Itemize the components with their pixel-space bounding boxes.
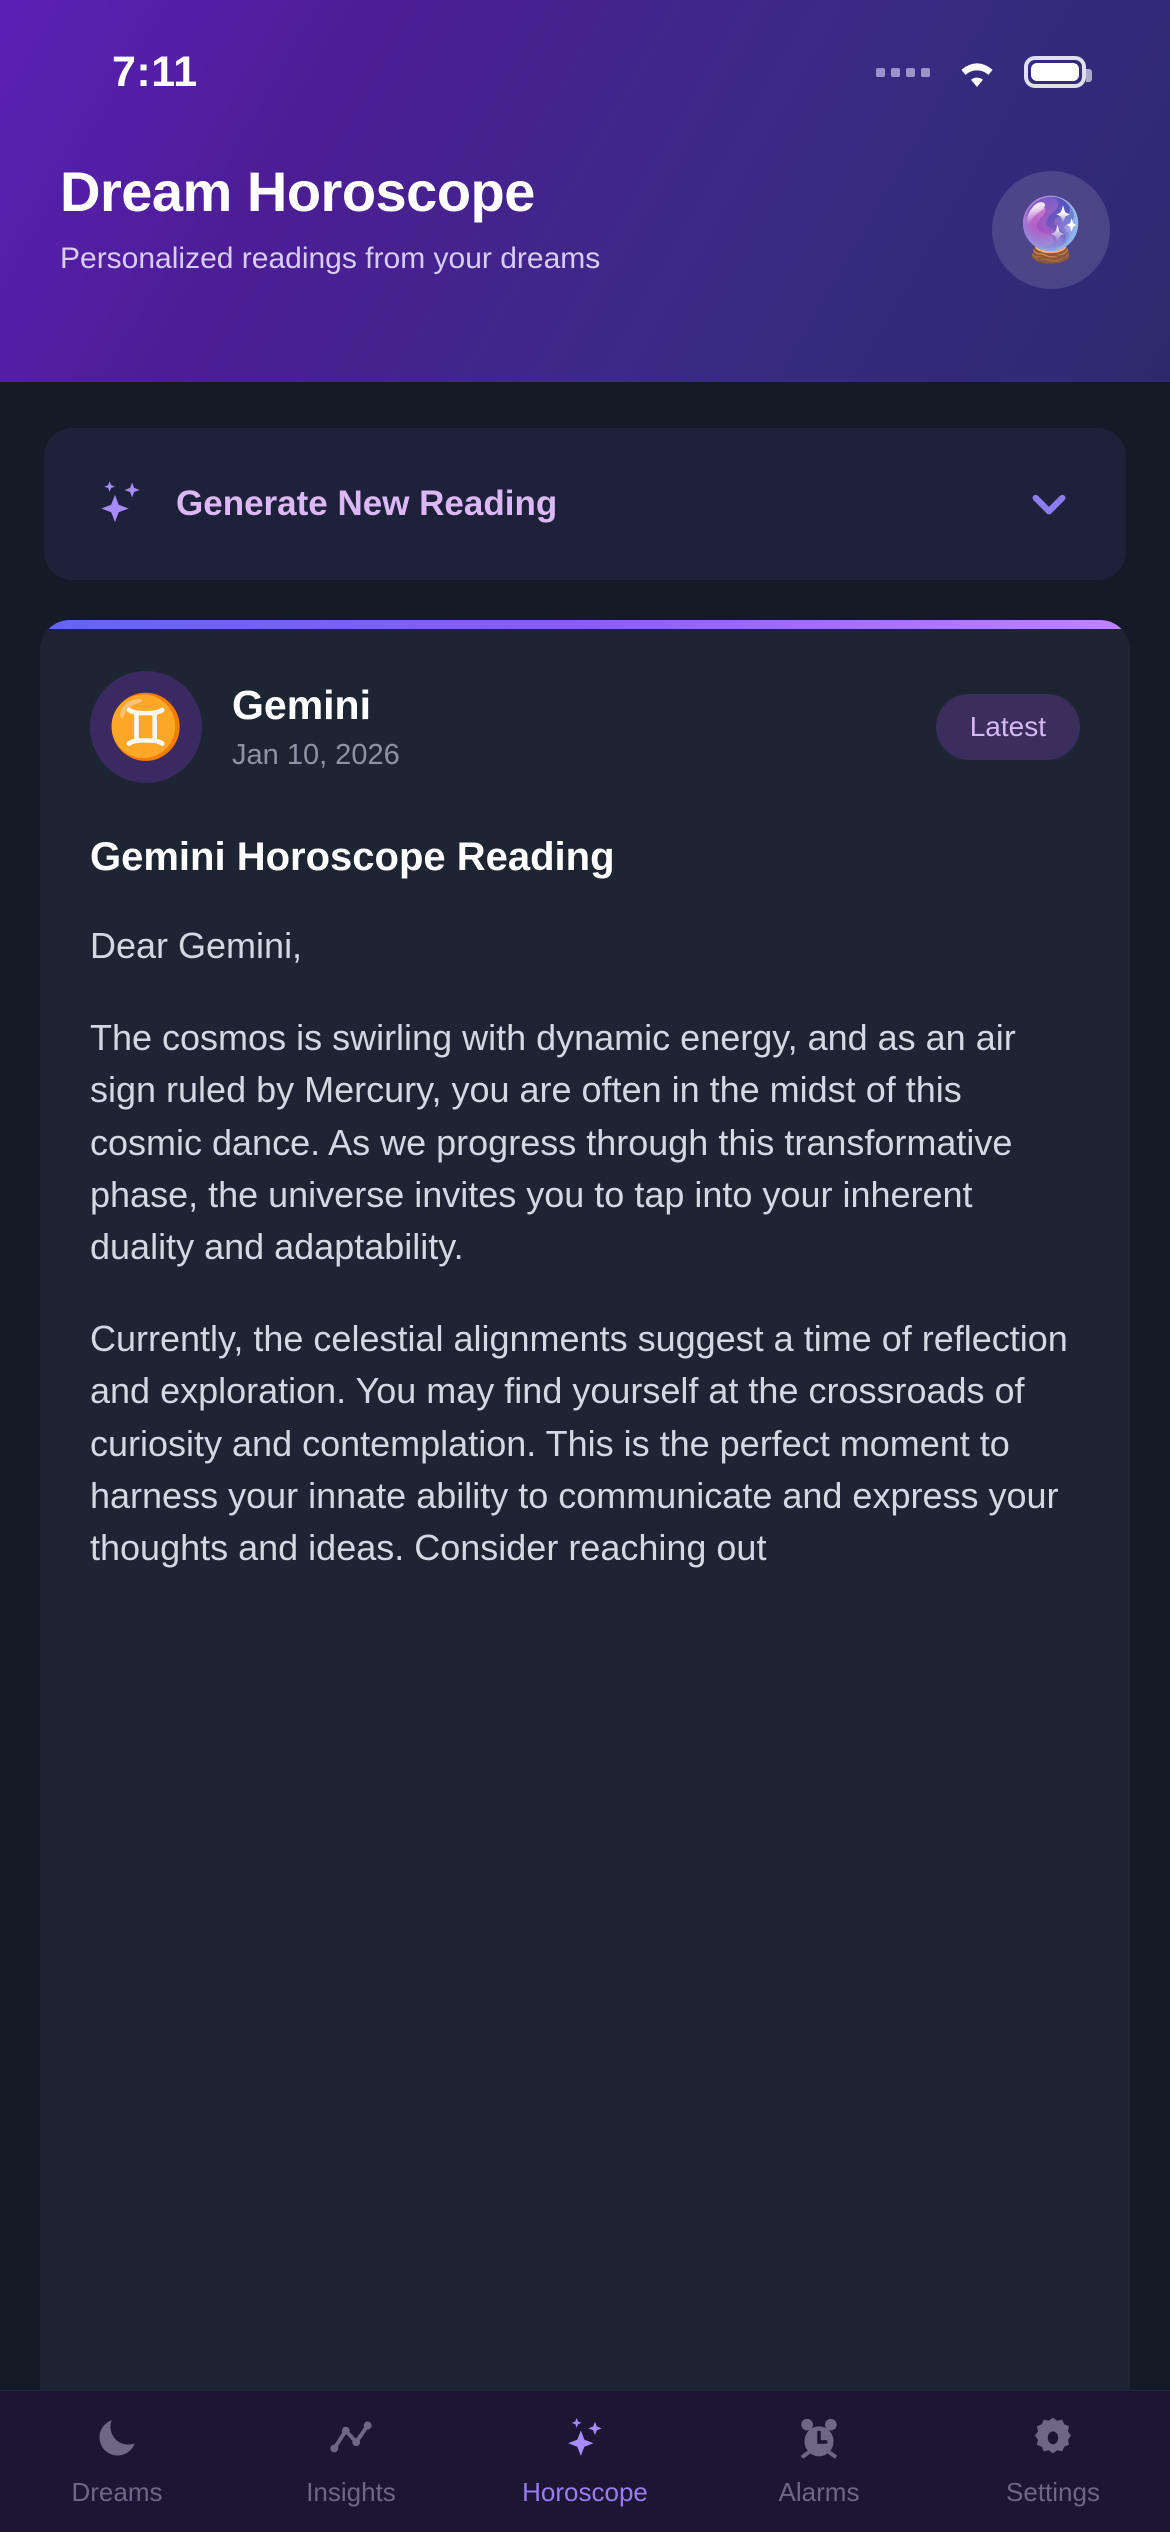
- nav-item-dreams[interactable]: Dreams: [0, 2413, 234, 2508]
- card-header-row: ♊ Gemini Jan 10, 2026 Latest: [90, 671, 1080, 783]
- page-subtitle: Personalized readings from your dreams: [60, 242, 600, 276]
- status-bar-icons: [876, 54, 1100, 90]
- reading-paragraph: The cosmos is swirling with dynamic ener…: [90, 1012, 1080, 1273]
- zodiac-sign-name: Gemini: [232, 682, 906, 729]
- wifi-icon: [952, 54, 1002, 90]
- header-text-block: Dream Horoscope Personalized readings fr…: [60, 163, 600, 276]
- sparkles-icon: [92, 475, 150, 533]
- nav-item-horoscope[interactable]: Horoscope: [468, 2413, 702, 2508]
- reading-date: Jan 10, 2026: [232, 739, 906, 772]
- nav-label: Settings: [1006, 2477, 1100, 2508]
- gemini-sign-icon: ♊: [90, 671, 202, 783]
- crystal-ball-icon[interactable]: 🔮: [992, 171, 1110, 289]
- status-bar-clock: 7:11: [112, 48, 198, 97]
- nav-label: Horoscope: [522, 2477, 648, 2508]
- page-title: Dream Horoscope: [60, 163, 600, 222]
- chevron-down-icon[interactable]: [1020, 475, 1078, 533]
- sparkles-icon: [560, 2413, 610, 2463]
- header-content: Dream Horoscope Personalized readings fr…: [60, 118, 1110, 289]
- reading-paragraph: Dear Gemini,: [90, 920, 1080, 972]
- nav-label: Alarms: [779, 2477, 860, 2508]
- nav-item-insights[interactable]: Insights: [234, 2413, 468, 2508]
- app-screen: 7:11 Dream Horoscope Personalized readin…: [0, 0, 1170, 2532]
- nav-item-alarms[interactable]: Alarms: [702, 2413, 936, 2508]
- generate-new-reading-label: Generate New Reading: [176, 484, 994, 524]
- nav-item-settings[interactable]: Settings: [936, 2413, 1170, 2508]
- status-bar: 7:11: [60, 0, 1110, 118]
- line-chart-icon: [326, 2413, 376, 2463]
- signal-dots-icon: [876, 68, 930, 77]
- moon-icon: [92, 2413, 142, 2463]
- nav-label: Insights: [306, 2477, 396, 2508]
- gear-icon: [1028, 2413, 1078, 2463]
- alarm-clock-icon: [794, 2413, 844, 2463]
- nav-label: Dreams: [71, 2477, 162, 2508]
- app-header: 7:11 Dream Horoscope Personalized readin…: [0, 0, 1170, 382]
- main-content: Generate New Reading ♊ Gemini Jan 10, 20…: [0, 382, 1170, 2532]
- horoscope-reading-card: ♊ Gemini Jan 10, 2026 Latest Gemini Horo…: [40, 620, 1130, 2468]
- generate-new-reading-button[interactable]: Generate New Reading: [44, 428, 1126, 580]
- card-body: ♊ Gemini Jan 10, 2026 Latest Gemini Horo…: [40, 629, 1130, 1574]
- status-badge: Latest: [936, 694, 1080, 760]
- sign-meta: Gemini Jan 10, 2026: [232, 682, 906, 772]
- battery-icon: [1024, 56, 1086, 88]
- reading-paragraph: Currently, the celestial alignments sugg…: [90, 1313, 1080, 1574]
- reading-title: Gemini Horoscope Reading: [90, 835, 1080, 880]
- card-accent-bar: [40, 620, 1130, 629]
- bottom-navigation: Dreams Insights Horoscope: [0, 2390, 1170, 2532]
